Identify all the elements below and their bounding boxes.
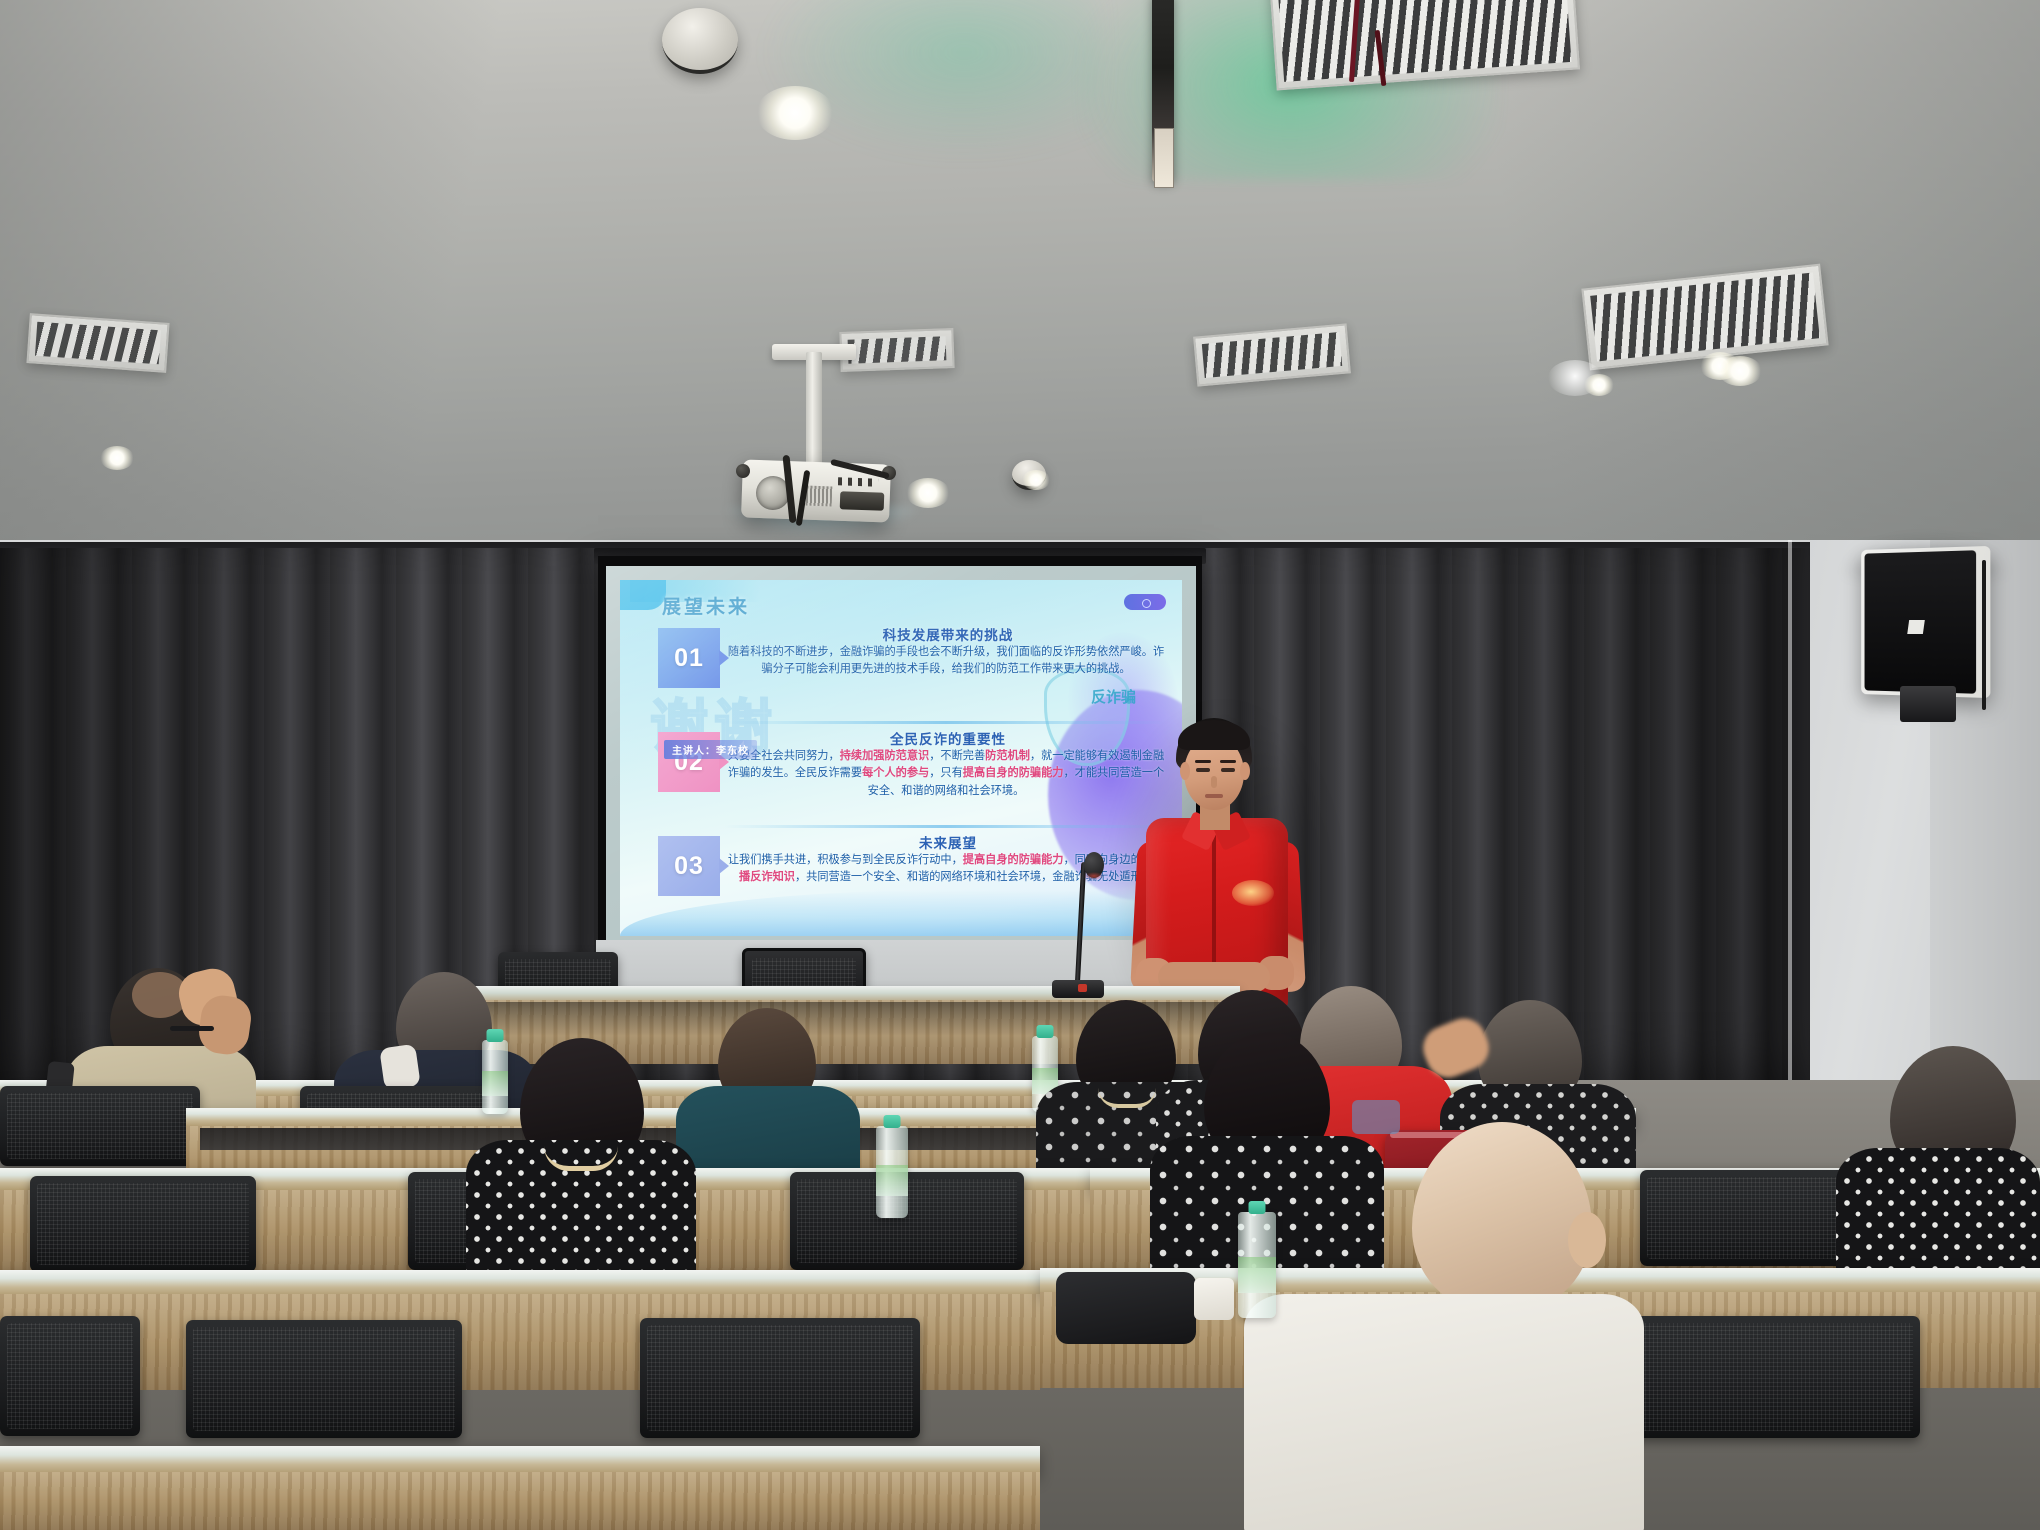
speaker-cable bbox=[1982, 560, 1986, 710]
ceiling-shadow-left bbox=[0, 0, 620, 560]
section-divider-02 bbox=[724, 825, 1168, 828]
air-vent-icon-left-2 bbox=[839, 328, 954, 372]
presenter-eye-right bbox=[1221, 768, 1235, 772]
presenter-mouth bbox=[1205, 794, 1223, 798]
air-vent-icon-left bbox=[26, 313, 169, 373]
projector-vent bbox=[806, 486, 833, 507]
chair-row-d-4[interactable] bbox=[0, 1316, 140, 1436]
bottle-cap-icon-6 bbox=[1249, 1201, 1266, 1214]
section-number-03: 03 bbox=[658, 836, 720, 896]
microphone-power-led bbox=[1078, 984, 1087, 992]
chair-row-d-3[interactable] bbox=[1630, 1316, 1920, 1438]
chair-row-d-2[interactable] bbox=[640, 1318, 920, 1438]
white-cup[interactable] bbox=[1194, 1278, 1234, 1320]
ceiling-downlight-5 bbox=[100, 446, 134, 470]
water-bottle-5[interactable] bbox=[876, 1126, 908, 1218]
bottle-cap-icon-5 bbox=[884, 1115, 901, 1128]
section-heading-01: 科技发展带来的挑战 bbox=[730, 624, 1166, 644]
ceiling-downlight-8 bbox=[1718, 356, 1762, 386]
ceiling-downlight bbox=[756, 86, 834, 140]
section-divider-01 bbox=[724, 721, 1168, 724]
chair-row-d[interactable] bbox=[186, 1320, 462, 1438]
slide-section-01: 01 科技发展带来的挑战 随着科技的不断进步，金融诈骗的手段也会不断升级，我们面… bbox=[620, 624, 1182, 728]
slide-title: 展望未来 bbox=[662, 592, 750, 619]
bottle-cap-icon-2 bbox=[1037, 1025, 1054, 1038]
presenter-nose bbox=[1211, 776, 1217, 788]
section-body-02: 只要全社会共同努力，持续加强防范意识，不断完善防范机制，就一定能够有效遏制金融诈… bbox=[724, 748, 1168, 800]
presenter-eyebrow-right bbox=[1220, 760, 1236, 763]
water-bottle[interactable] bbox=[482, 1040, 508, 1114]
hanging-banner-label bbox=[1154, 128, 1174, 188]
attendee-facemask bbox=[379, 1044, 420, 1091]
section-number-01: 01 bbox=[658, 628, 720, 688]
presenter-eyebrow-left bbox=[1195, 760, 1211, 763]
presenter-eye-left bbox=[1196, 768, 1210, 772]
bottle-cap-icon bbox=[487, 1029, 504, 1042]
presentation-slide[interactable]: 展望未来 谢谢 反诈骗 01 科技发展带来的挑战 随着科技的不断进步，金融诈骗的… bbox=[620, 580, 1182, 936]
conference-room-photo: 展望未来 谢谢 反诈骗 01 科技发展带来的挑战 随着科技的不断进步，金融诈骗的… bbox=[0, 0, 2040, 1530]
water-bottle-6[interactable] bbox=[1238, 1212, 1276, 1318]
projector-mount-pole bbox=[806, 352, 822, 472]
projector-indicator-lights bbox=[838, 477, 878, 486]
microphone-led-glow bbox=[1084, 872, 1104, 880]
slide-corner-accent bbox=[620, 580, 666, 610]
attendee-ear bbox=[1568, 1212, 1606, 1268]
attendee-glasses-arm bbox=[170, 1026, 214, 1031]
presenter-shirt-logo bbox=[1232, 880, 1274, 906]
section-heading-03: 未来展望 bbox=[730, 832, 1166, 852]
ceiling-downlight-7 bbox=[1584, 374, 1614, 396]
search-icon bbox=[1142, 599, 1151, 608]
black-bag[interactable] bbox=[1056, 1272, 1196, 1344]
section-body-01: 随着科技的不断进步，金融诈骗的手段也会不断升级，我们面临的反诈形势依然严峻。诈骗… bbox=[724, 644, 1168, 679]
speaker-brand-logo bbox=[1907, 620, 1925, 634]
smoke-detector-icon bbox=[662, 8, 738, 74]
table-foreground-front bbox=[0, 1472, 1040, 1530]
chair-row-c[interactable] bbox=[30, 1176, 256, 1272]
ceiling-downlight-2 bbox=[906, 478, 950, 508]
attendee-body-11 bbox=[1244, 1294, 1644, 1530]
presenter-ear-left bbox=[1180, 762, 1190, 780]
slide-presenter-tag: 主讲人：李东校 bbox=[664, 740, 757, 759]
ceiling-downlight-6 bbox=[1022, 470, 1050, 490]
section-heading-02: 全民反诈的重要性 bbox=[730, 728, 1166, 748]
projector-mount-knob-left bbox=[736, 464, 750, 478]
slide-badge[interactable] bbox=[1124, 594, 1166, 610]
blue-cloth-item bbox=[1352, 1100, 1400, 1134]
chair-row-a[interactable] bbox=[0, 1086, 200, 1166]
presenter-ear-right bbox=[1240, 762, 1250, 780]
projector-ports bbox=[840, 491, 885, 511]
speaker-bracket bbox=[1900, 686, 1956, 722]
